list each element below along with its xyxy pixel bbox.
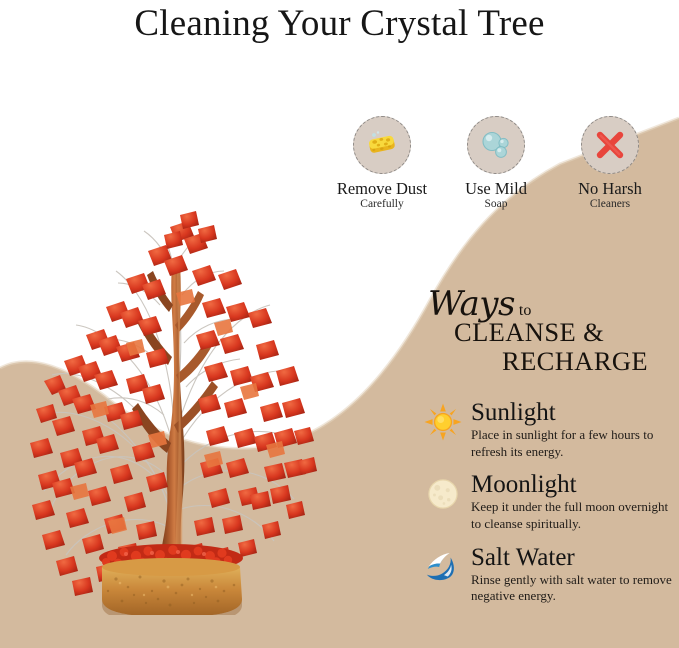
care-badge-no-harsh-cleaners[interactable]: No Harsh Cleaners <box>558 116 662 212</box>
red-x-icon <box>593 128 627 162</box>
sun-icon <box>424 403 462 441</box>
sponge-icon <box>365 128 399 162</box>
ways-script-word: Ways <box>428 288 515 320</box>
crystal-tree-illustration <box>8 175 338 615</box>
method-title: Sunlight <box>471 400 674 425</box>
ways-heading: Ways to CLEANSE & RECHARGE <box>424 288 674 376</box>
method-body: Moonlight Keep it under the full moon ov… <box>471 472 674 532</box>
badge-circle <box>581 116 639 174</box>
ways-heading-line-1: Ways to <box>428 288 674 320</box>
ways-heading-line-2: CLEANSE & <box>454 318 674 347</box>
method-item-moonlight[interactable]: Moonlight Keep it under the full moon ov… <box>424 472 674 532</box>
infographic-canvas: Cleaning Your Crystal Tree <box>0 0 679 648</box>
badge-circle <box>467 116 525 174</box>
badge-subtitle: Carefully <box>360 198 403 211</box>
method-title: Moonlight <box>471 472 674 497</box>
badge-title: Remove Dust <box>337 180 427 197</box>
method-body: Sunlight Place in sunlight for a few hou… <box>471 400 674 460</box>
ways-heading-line-3: RECHARGE <box>502 347 674 376</box>
badge-circle <box>353 116 411 174</box>
method-item-sunlight[interactable]: Sunlight Place in sunlight for a few hou… <box>424 400 674 460</box>
badge-subtitle: Soap <box>485 198 508 211</box>
method-description: Keep it under the full moon overnight to… <box>471 499 674 532</box>
wave-icon <box>424 548 462 586</box>
moon-icon <box>424 475 462 513</box>
care-badge-remove-dust[interactable]: Remove Dust Carefully <box>330 116 434 212</box>
amber-stone-base <box>102 558 242 615</box>
care-badge-row: Remove Dust Carefully Use Mild Soap <box>330 116 662 220</box>
page-title: Cleaning Your Crystal Tree <box>0 2 679 45</box>
method-item-salt-water[interactable]: Salt Water Rinse gently with salt water … <box>424 545 674 605</box>
cleanse-method-list: Sunlight Place in sunlight for a few hou… <box>424 400 674 617</box>
method-description: Rinse gently with salt water to remove n… <box>471 572 674 605</box>
badge-title: Use Mild <box>465 180 527 197</box>
method-body: Salt Water Rinse gently with salt water … <box>471 545 674 605</box>
care-badge-use-mild-soap[interactable]: Use Mild Soap <box>444 116 548 212</box>
badge-title: No Harsh <box>578 180 642 197</box>
badge-subtitle: Cleaners <box>590 198 630 211</box>
method-description: Place in sunlight for a few hours to ref… <box>471 427 674 460</box>
bubbles-icon <box>479 128 513 162</box>
method-title: Salt Water <box>471 545 674 570</box>
